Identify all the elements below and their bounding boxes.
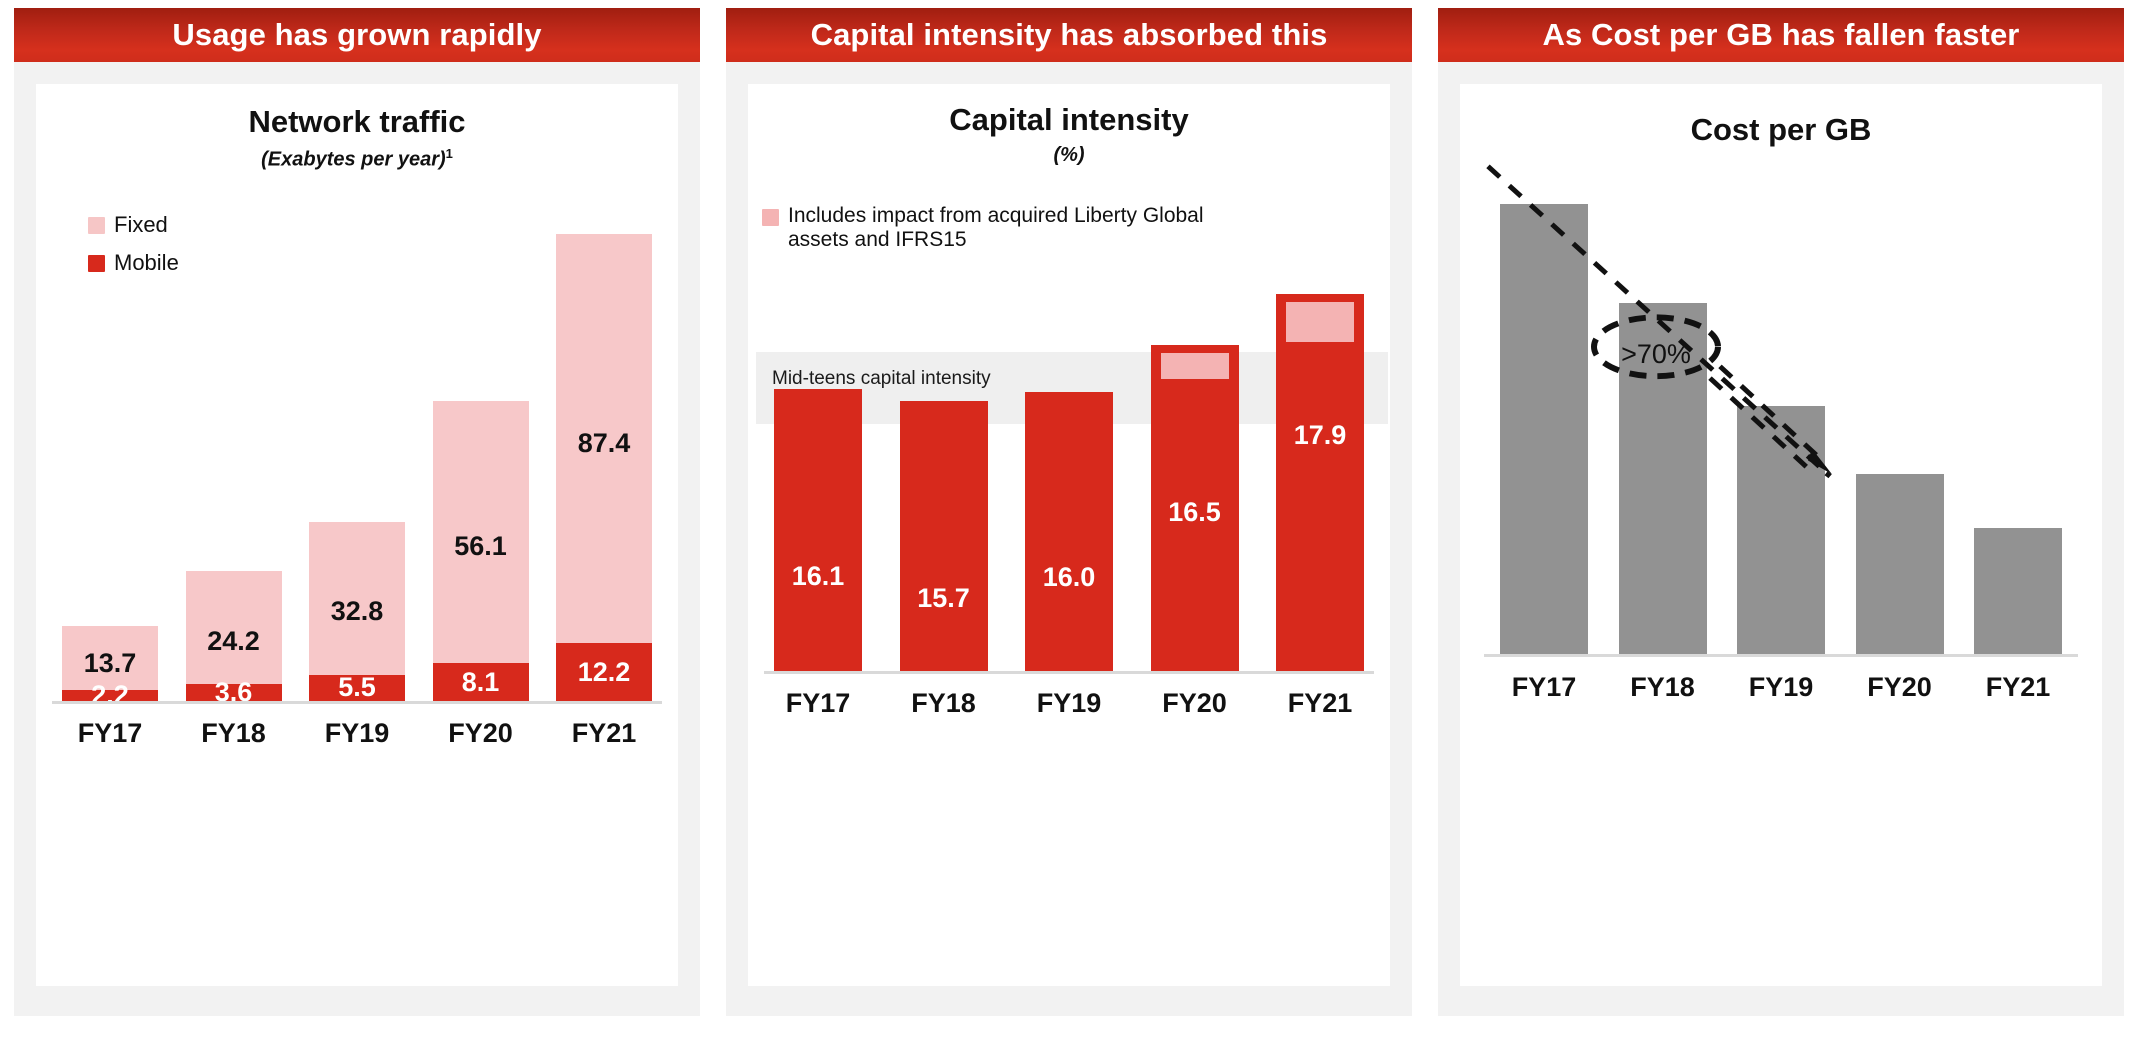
bar-cost-fy21	[1974, 528, 2062, 654]
x-tick-cost-fy19: FY19	[1737, 672, 1825, 703]
legend-swatch-fixed-icon	[88, 217, 105, 234]
bar-column-cost-fy19	[1737, 204, 1825, 654]
bar-value-fixed-fy19: 32.8	[309, 596, 405, 627]
chart-1-axis-line	[52, 701, 662, 704]
x-tick-cost-fy17: FY17	[1500, 672, 1588, 703]
three-panel-chart-deck: Usage has grown rapidly Network traffic …	[0, 0, 2144, 1056]
decline-pct-label: >70%	[1594, 334, 1718, 374]
x-tick-cost-fy21: FY21	[1974, 672, 2062, 703]
bar-segment-fixed-fy20: 56.1	[433, 401, 529, 663]
bar-value-fixed-fy18: 24.2	[186, 626, 282, 657]
x-tick-fy20: FY20	[433, 718, 529, 749]
chart-3-bars	[1500, 204, 2062, 654]
bar-column-ci-fy21: 17.9	[1276, 294, 1364, 671]
x-tick-ci-fy18: FY18	[900, 688, 988, 719]
bar-segment-fixed-fy19: 32.8	[309, 522, 405, 675]
panel-3-body: Cost per GB	[1438, 62, 2124, 1016]
bar-column-cost-fy17	[1500, 204, 1588, 654]
x-tick-ci-fy21: FY21	[1276, 688, 1364, 719]
bar-ci-fy18: 15.7	[900, 401, 988, 671]
liberty-impact-cap-fy20	[1161, 353, 1229, 379]
bar-value-mobile-fy21: 12.2	[556, 657, 652, 688]
bar-segment-mobile-fy18: 3.6	[186, 684, 282, 701]
bar-column-cost-fy18	[1619, 204, 1707, 654]
bar-ci-fy20: 16.5	[1151, 345, 1239, 671]
chart-2-axis-line	[764, 671, 1374, 674]
bar-value-fixed-fy17: 13.7	[62, 648, 158, 679]
panel-2-body: Capital intensity (%) Includes impact fr…	[726, 62, 1412, 1016]
bar-value-fixed-fy21: 87.4	[556, 428, 652, 459]
chart-1-footnote-marker: 1	[446, 146, 453, 161]
panel-2-card: Capital intensity (%) Includes impact fr…	[748, 84, 1390, 986]
x-tick-ci-fy19: FY19	[1025, 688, 1113, 719]
legend-item-liberty: Includes impact from acquired Liberty Gl…	[762, 204, 1228, 252]
bar-value-ci-fy18: 15.7	[900, 583, 988, 614]
bar-ci-fy19: 16.0	[1025, 392, 1113, 671]
bar-column-fy18: 24.2 3.6	[186, 234, 282, 701]
bar-column-ci-fy18: 15.7	[900, 294, 988, 671]
bar-column-fy17: 13.7 2.2	[62, 234, 158, 701]
liberty-impact-cap-fy21	[1286, 302, 1354, 342]
bar-value-fixed-fy20: 56.1	[433, 531, 529, 562]
x-tick-ci-fy20: FY20	[1151, 688, 1239, 719]
bar-column-fy21: 87.4 12.2	[556, 234, 652, 701]
chart-3-axis-line	[1484, 654, 2078, 657]
x-tick-fy18: FY18	[186, 718, 282, 749]
bar-column-ci-fy19: 16.0	[1025, 294, 1113, 671]
x-tick-cost-fy20: FY20	[1856, 672, 1944, 703]
panel-2-header: Capital intensity has absorbed this	[726, 8, 1412, 62]
bar-column-ci-fy20: 16.5	[1151, 294, 1239, 671]
chart-2-title: Capital intensity	[748, 102, 1390, 138]
bar-segment-mobile-fy19: 5.5	[309, 675, 405, 701]
panel-1-body: Network traffic (Exabytes per year)1 Fix…	[14, 62, 700, 1016]
bar-value-mobile-fy20: 8.1	[433, 667, 529, 698]
panel-1-header: Usage has grown rapidly	[14, 8, 700, 62]
chart-1-subtitle-text: (Exabytes per year)	[261, 149, 446, 171]
bar-value-ci-fy20: 16.5	[1151, 497, 1239, 528]
bar-ci-fy21: 17.9	[1276, 294, 1364, 671]
x-tick-fy21: FY21	[556, 718, 652, 749]
panel-network-traffic: Usage has grown rapidly Network traffic …	[14, 8, 700, 1016]
x-tick-cost-fy18: FY18	[1619, 672, 1707, 703]
bar-column-cost-fy20	[1856, 204, 1944, 654]
bar-value-ci-fy17: 16.1	[774, 561, 862, 592]
bar-column-fy20: 56.1 8.1	[433, 234, 529, 701]
legend-swatch-liberty-icon	[762, 209, 779, 226]
bar-value-mobile-fy17: 2.2	[62, 680, 158, 711]
bar-segment-mobile-fy20: 8.1	[433, 663, 529, 701]
panel-capital-intensity: Capital intensity has absorbed this Capi…	[726, 8, 1412, 1016]
bar-column-cost-fy21	[1974, 204, 2062, 654]
bar-segment-mobile-fy17: 2.2	[62, 690, 158, 701]
bar-column-ci-fy17: 16.1	[774, 294, 862, 671]
panel-1-card: Network traffic (Exabytes per year)1 Fix…	[36, 84, 678, 986]
bar-segment-fixed-fy18: 24.2	[186, 571, 282, 684]
x-tick-fy19: FY19	[309, 718, 405, 749]
bar-cost-fy17	[1500, 204, 1588, 654]
bar-value-ci-fy19: 16.0	[1025, 562, 1113, 593]
bar-segment-mobile-fy21: 12.2	[556, 643, 652, 701]
chart-1-bars: 13.7 2.2 24.2 3.6	[62, 234, 652, 701]
x-tick-ci-fy17: FY17	[774, 688, 862, 719]
bar-column-fy19: 32.8 5.5	[309, 234, 405, 701]
panel-3-header: As Cost per GB has fallen faster	[1438, 8, 2124, 62]
bar-cost-fy20	[1856, 474, 1944, 654]
panel-3-card: Cost per GB	[1460, 84, 2102, 986]
chart-1-subtitle: (Exabytes per year)1	[36, 146, 678, 172]
bar-cost-fy19	[1737, 406, 1825, 654]
chart-2-bars: 16.1 15.7 16.0	[774, 294, 1364, 671]
bar-value-ci-fy21: 17.9	[1276, 420, 1364, 451]
bar-ci-fy17: 16.1	[774, 389, 862, 671]
chart-2-subtitle: (%)	[748, 144, 1390, 167]
x-tick-fy17: FY17	[62, 718, 158, 749]
legend-label-liberty: Includes impact from acquired Liberty Gl…	[788, 204, 1228, 252]
chart-2-x-ticks: FY17 FY18 FY19 FY20 FY21	[774, 688, 1364, 719]
chart-1-title: Network traffic	[36, 104, 678, 140]
bar-value-mobile-fy19: 5.5	[309, 672, 405, 703]
chart-3-x-ticks: FY17 FY18 FY19 FY20 FY21	[1500, 672, 2062, 703]
bar-segment-fixed-fy21: 87.4	[556, 234, 652, 643]
chart-3-title: Cost per GB	[1460, 112, 2102, 148]
chart-1-x-ticks: FY17 FY18 FY19 FY20 FY21	[62, 718, 652, 749]
panel-cost-per-gb: As Cost per GB has fallen faster Cost pe…	[1438, 8, 2124, 1016]
